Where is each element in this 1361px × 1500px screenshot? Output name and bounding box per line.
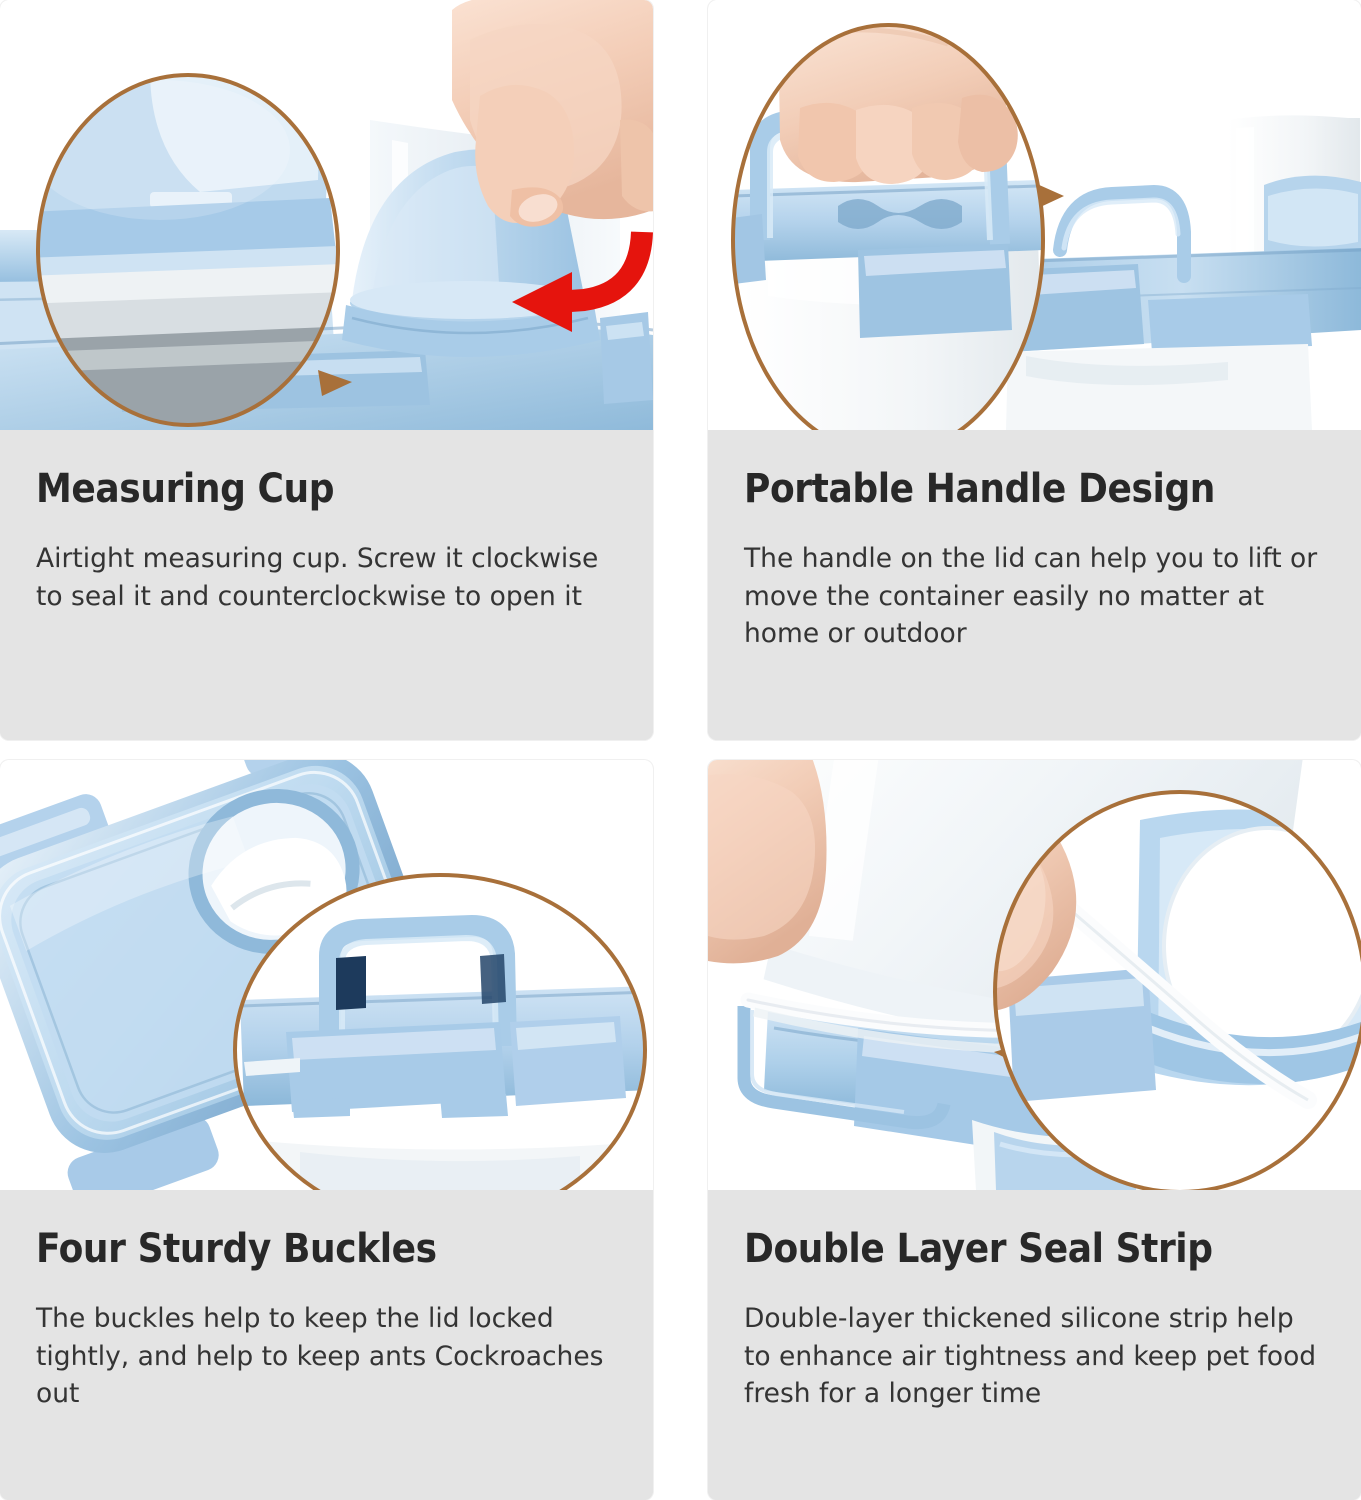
feature-description: Double-layer thickened silicone strip he… xyxy=(744,1300,1327,1413)
feature-description: The buckles help to keep the lid locked … xyxy=(36,1300,619,1413)
feature-description: The handle on the lid can help you to li… xyxy=(744,540,1327,653)
measuring-cup-illustration xyxy=(0,0,653,430)
feature-title: Measuring Cup xyxy=(36,468,619,510)
feature-image-four-sturdy-buckles xyxy=(0,760,653,1190)
feature-title: Double Layer Seal Strip xyxy=(744,1228,1327,1270)
column-gutter xyxy=(653,0,708,1500)
feature-image-double-layer-seal-strip xyxy=(708,760,1361,1190)
feature-card-four-sturdy-buckles: Four Sturdy Buckles The buckles help to … xyxy=(0,760,653,1500)
feature-caption: Four Sturdy Buckles The buckles help to … xyxy=(0,1190,653,1500)
portable-handle-illustration xyxy=(708,0,1361,430)
feature-card-double-layer-seal-strip: Double Layer Seal Strip Double-layer thi… xyxy=(708,760,1361,1500)
feature-image-measuring-cup xyxy=(0,0,653,430)
feature-title: Four Sturdy Buckles xyxy=(36,1228,619,1270)
four-buckles-illustration xyxy=(0,760,653,1190)
feature-caption: Portable Handle Design The handle on the… xyxy=(708,430,1361,740)
feature-card-measuring-cup: Measuring Cup Airtight measuring cup. Sc… xyxy=(0,0,653,740)
feature-caption: Measuring Cup Airtight measuring cup. Sc… xyxy=(0,430,653,740)
feature-grid: Measuring Cup Airtight measuring cup. Sc… xyxy=(0,0,1361,1500)
feature-description: Airtight measuring cup. Screw it clockwi… xyxy=(36,540,619,615)
feature-caption: Double Layer Seal Strip Double-layer thi… xyxy=(708,1190,1361,1500)
feature-card-portable-handle-design: Portable Handle Design The handle on the… xyxy=(708,0,1361,740)
feature-image-portable-handle-design xyxy=(708,0,1361,430)
seal-strip-illustration xyxy=(708,760,1361,1190)
feature-title: Portable Handle Design xyxy=(744,468,1327,510)
